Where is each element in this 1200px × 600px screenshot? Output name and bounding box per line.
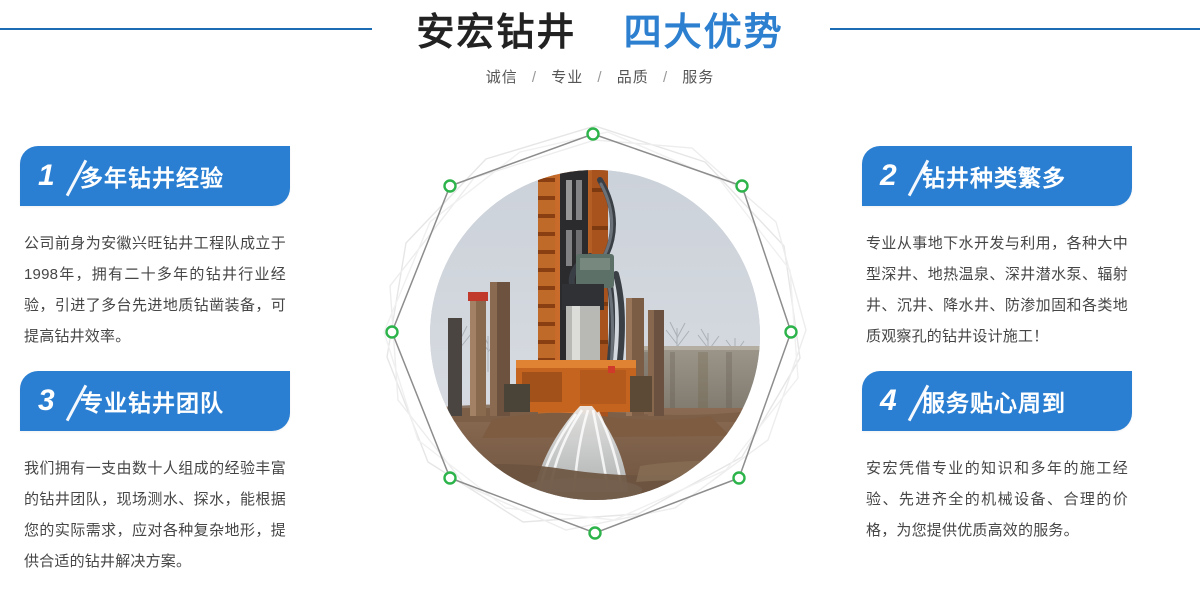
drilling-rig-illustration — [430, 170, 760, 500]
feature-card-1-body: 公司前身为安徽兴旺钻井工程队成立于1998年，拥有二十多年的钻井行业经验，引进了… — [20, 228, 290, 352]
ring-node-top — [588, 129, 599, 140]
feature-card-4-number: 4 — [880, 386, 922, 416]
page-subtitle: 诚信 / 专业 / 品质 / 服务 — [0, 66, 1200, 87]
wall-cap — [626, 346, 760, 350]
feature-number-glyph: 2 — [880, 161, 897, 191]
feature-card-3-number: 3 — [38, 386, 80, 416]
feature-card-1[interactable]: 1 多年钻井经验 公司前身为安徽兴旺钻井工程队成立于1998年，拥有二十多年的钻… — [20, 146, 290, 352]
feature-card-4-header: 4 服务贴心周到 — [862, 371, 1132, 431]
feature-number-glyph: 1 — [38, 161, 55, 191]
feature-card-4[interactable]: 4 服务贴心周到 安宏凭借专业的知识和多年的施工经验、先进齐全的机械设备、合理的… — [862, 371, 1132, 546]
feature-card-1-title: 多年钻井经验 — [80, 159, 224, 193]
feature-card-3-header: 3 专业钻井团队 — [20, 371, 290, 431]
feature-card-4-title: 服务贴心周到 — [922, 384, 1066, 418]
subtitle-item-2: 品质 — [617, 69, 649, 86]
feature-number-glyph: 4 — [880, 386, 897, 416]
rig-base-machinery — [504, 360, 652, 412]
subtitle-item-1: 专业 — [551, 69, 583, 86]
feature-card-2-header: 2 钻井种类繁多 — [862, 146, 1132, 206]
feature-card-4-body: 安宏凭借专业的知识和多年的施工经验、先进齐全的机械设备、合理的价格，为您提供优质… — [862, 453, 1132, 546]
subtitle-item-3: 服务 — [682, 69, 714, 86]
feature-card-2-number: 2 — [880, 161, 922, 191]
page-title-company: 安宏钻井 — [416, 12, 576, 54]
feature-card-2[interactable]: 2 钻井种类繁多 专业从事地下水开发与利用，各种大中型深井、地热温泉、深井潜水泵… — [862, 146, 1132, 352]
page-title: 安宏钻井 四大优势 — [0, 10, 1200, 56]
subtitle-item-0: 诚信 — [486, 69, 518, 86]
feature-card-3-body: 我们拥有一支由数十人组成的经验丰富的钻井团队，现场测水、探水，能根据您的实际需求… — [20, 453, 290, 577]
ring-node-right — [786, 327, 797, 338]
promo-banner: 安宏钻井 四大优势 诚信 / 专业 / 品质 / 服务 1 多年钻井经验 公司前… — [0, 0, 1200, 600]
center-graphic — [370, 110, 820, 560]
feature-card-1-number: 1 — [38, 161, 80, 191]
subtitle-separator-2: / — [663, 69, 668, 86]
subtitle-separator-1: / — [597, 69, 602, 86]
feature-card-2-body: 专业从事地下水开发与利用，各种大中型深井、地热温泉、深井潜水泵、辐射井、沉井、降… — [862, 228, 1132, 352]
feature-number-glyph: 3 — [38, 386, 55, 416]
feature-card-1-header: 1 多年钻井经验 — [20, 146, 290, 206]
feature-card-3[interactable]: 3 专业钻井团队 我们拥有一支由数十人组成的经验丰富的钻井团队，现场测水、探水，… — [20, 371, 290, 577]
ring-node-left — [387, 327, 398, 338]
feature-card-2-title: 钻井种类繁多 — [922, 159, 1066, 193]
drilling-rig-photo — [430, 170, 760, 500]
page-title-highlight: 四大优势 — [624, 12, 784, 54]
feature-card-3-title: 专业钻井团队 — [80, 384, 224, 418]
subtitle-separator-0: / — [532, 69, 537, 86]
ring-node-bottom — [590, 528, 601, 539]
